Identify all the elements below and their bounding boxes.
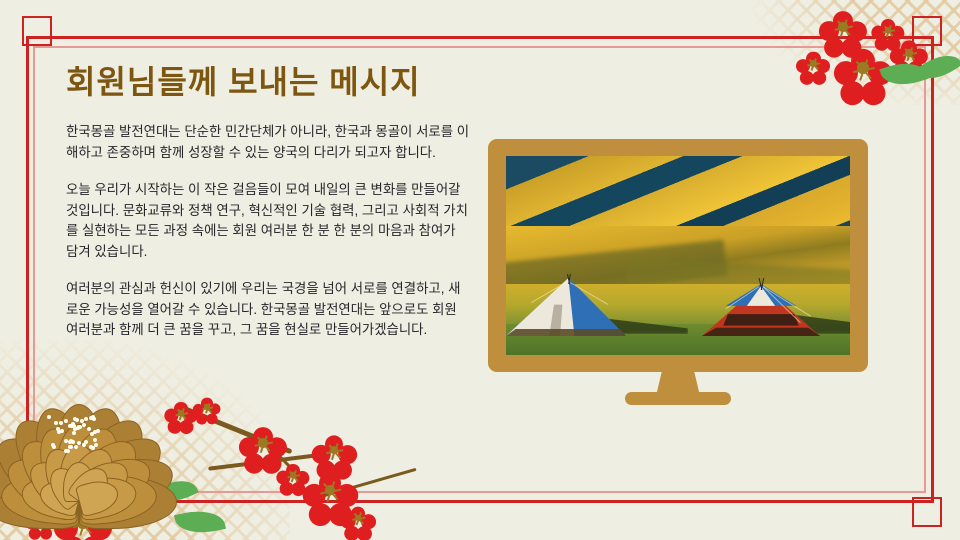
frame-thin-top [33, 46, 926, 48]
lotus-stamen-dot [64, 419, 68, 423]
lotus-stamen-dot [96, 429, 100, 433]
ger-blue-white [506, 274, 626, 336]
blossom-bl-6 [168, 400, 194, 426]
blossom-center [838, 22, 847, 31]
slide-canvas: 회원님들께 보내는 메시지 한국몽골 발전연대는 단순한 민간단체가 아니라, … [0, 0, 960, 540]
blossom-center [810, 60, 816, 66]
ger-red [702, 278, 820, 336]
blossom-bl-7 [244, 424, 282, 462]
monitor-bezel [488, 139, 868, 372]
page-title: 회원님들께 보내는 메시지 [66, 57, 421, 103]
lotus-stamen-cluster [46, 414, 104, 454]
lotus-stamen-dot [71, 440, 75, 444]
corner-mark-bottom-right [912, 497, 942, 527]
lotus-stamen-dot [76, 426, 80, 430]
lotus-stamen-dot [89, 416, 93, 420]
monitor-illustration [488, 139, 868, 389]
lotus-stamen-dot [54, 421, 58, 425]
blossom-bl-11 [344, 504, 372, 532]
blossom-br-1 [196, 396, 218, 418]
lotus-stamen-dot [60, 429, 64, 433]
lotus-stamen-dot [47, 415, 51, 419]
lotus-stamen-dot [59, 421, 63, 425]
blossom-tr-1 [824, 8, 862, 46]
blossom-center [905, 49, 912, 56]
blossom-center [857, 62, 868, 73]
paragraph-2: 오늘 우리가 시작하는 이 작은 걸음들이 모여 내일의 큰 변화를 만들어갈 … [66, 180, 471, 262]
paragraph-1: 한국몽골 발전연대는 단순한 민간단체가 아니라, 한국과 몽골이 서로를 이해… [66, 122, 471, 163]
message-body: 한국몽골 발전연대는 단순한 민간단체가 아니라, 한국과 몽골이 서로를 이해… [66, 122, 471, 341]
lotus-stamen-dot [66, 449, 70, 453]
monitor-screen [506, 156, 850, 355]
corner-mark-top-left [22, 16, 52, 46]
monitor-stand-base [625, 392, 731, 405]
lotus-stamen-dot [74, 445, 78, 449]
blossom-bl-9 [316, 432, 352, 468]
blossom-tr-5 [800, 50, 827, 77]
blossom-bl-8 [280, 462, 306, 488]
lotus-stamen-dot [87, 427, 91, 431]
lotus-stamen-dot [82, 423, 86, 427]
frame-line-right [931, 36, 934, 503]
lotus-stamen-dot [84, 440, 88, 444]
lotus-stamen-dot [89, 445, 93, 449]
lotus-stamen-dot [93, 438, 97, 442]
blossom-center [204, 404, 209, 409]
blossom-tr-3 [840, 45, 886, 91]
lotus-stamen-dot [72, 431, 76, 435]
lotus-stamen-dot [77, 441, 81, 445]
lotus-stamen-dot [90, 432, 94, 436]
frame-line-top [26, 36, 934, 39]
lotus-stamen-dot [84, 417, 88, 421]
blossom-center [258, 438, 267, 447]
frame-thin-right [924, 46, 926, 493]
